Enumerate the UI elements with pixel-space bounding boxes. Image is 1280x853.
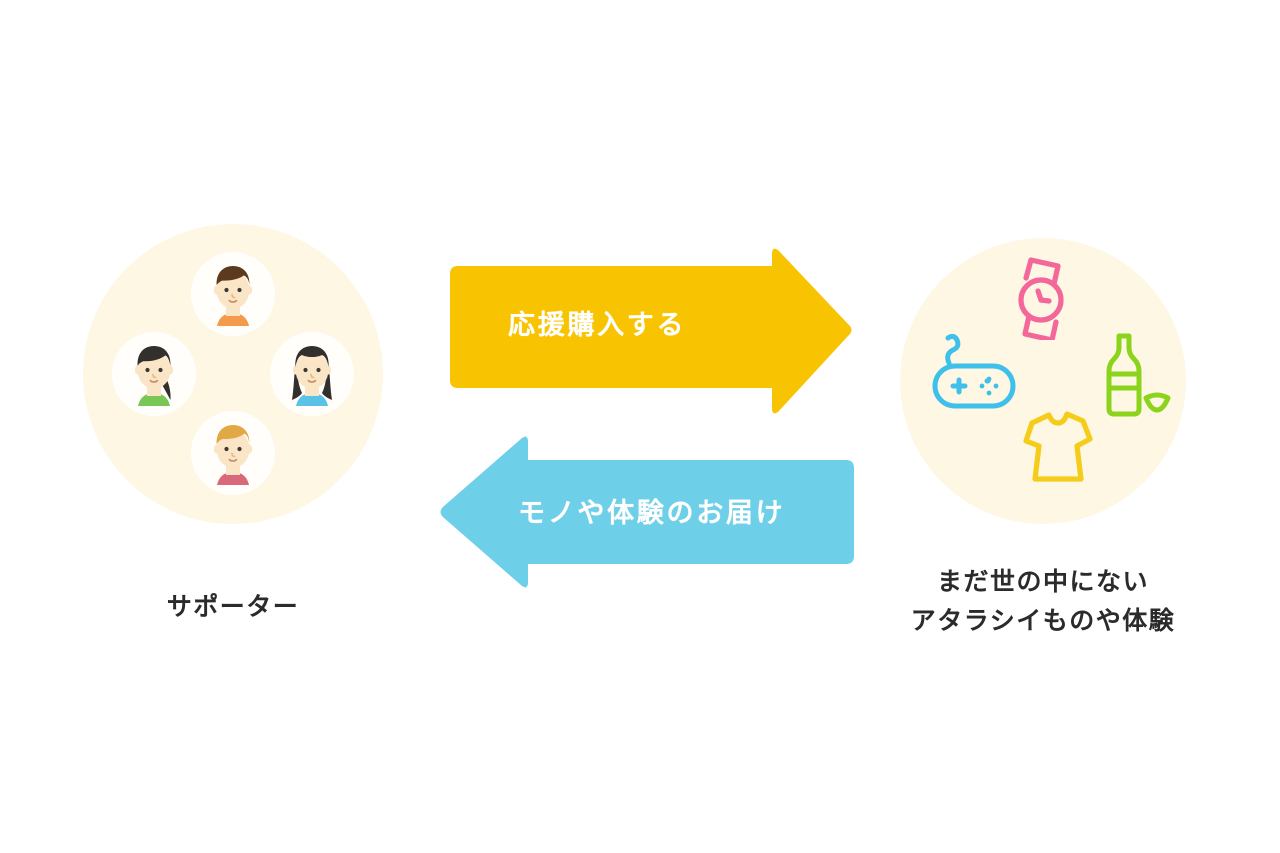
buy-arrow-label: 応援購入する [508,303,686,342]
avatar-bottom [191,411,275,495]
diagram-canvas: サポーター 応援購入する モノや体験のお届け [0,0,1280,853]
products-caption-line1: まだ世の中にない [883,563,1203,602]
supporters-caption: サポーター [83,588,383,627]
products-caption: まだ世の中にない アタラシイものや体験 [883,563,1203,641]
avatar-left-face [112,332,196,416]
watch-icon [1005,256,1081,340]
avatar-left [112,332,196,416]
avatar-top-face [191,252,275,336]
products-caption-line2: アタラシイものや体験 [883,602,1203,641]
avatar-right [270,332,354,416]
deliver-arrow-label: モノや体験のお届け [518,491,785,530]
tshirt-icon [1021,409,1099,485]
gamepad-icon [929,330,1021,416]
bottle-icon [1098,330,1174,420]
avatar-top [191,252,275,336]
avatar-bottom-face [191,411,275,495]
avatar-right-face [270,332,354,416]
